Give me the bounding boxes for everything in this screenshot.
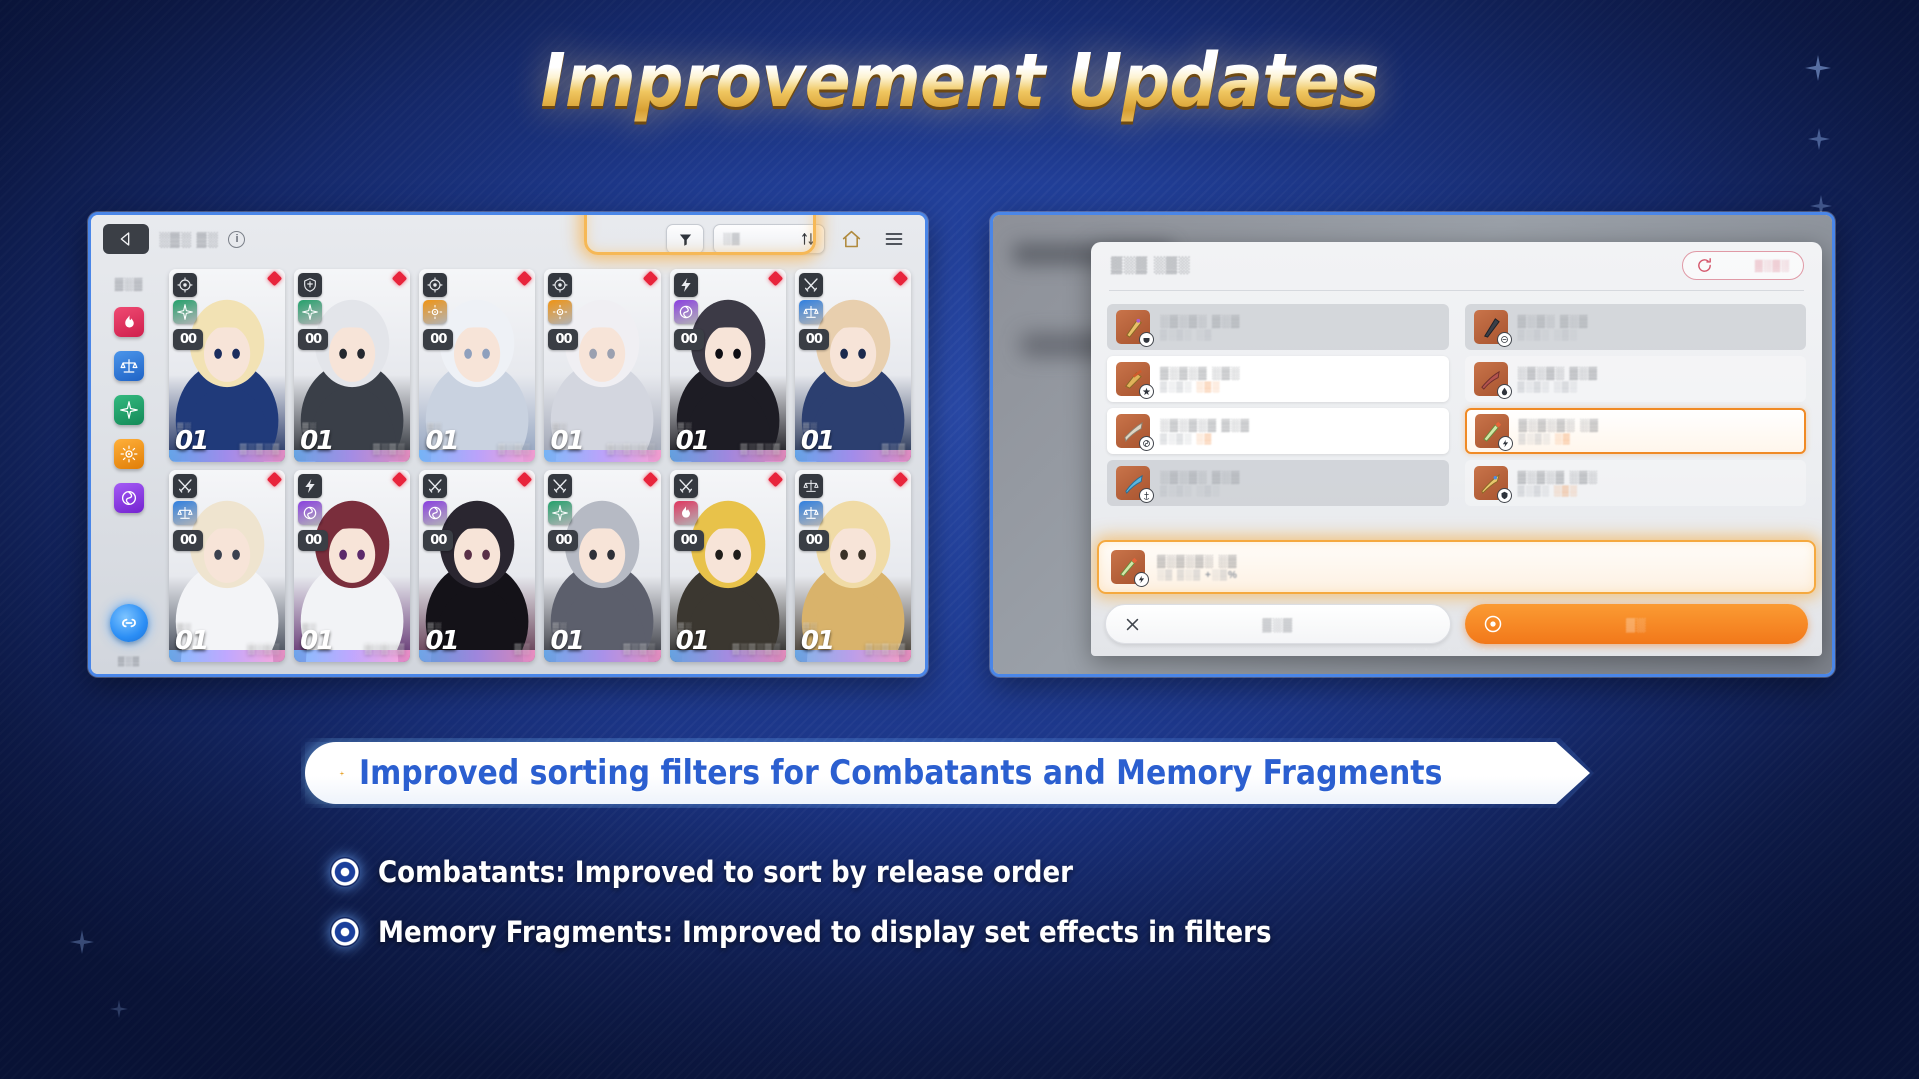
- sync-fab-label: ▒░▒: [118, 656, 140, 666]
- card-number: 01: [425, 626, 457, 656]
- card-badge-stack: 00: [298, 474, 328, 551]
- card-level-badge: 00: [423, 329, 453, 350]
- combatant-roster-screenshot: ░▒░ ▒░ i ░▒ ▒░▒: [88, 212, 928, 677]
- sparkle-icon: [339, 760, 345, 787]
- option-badge-icon: [1139, 436, 1154, 451]
- set-effect-text: ▒░▒░▒░ ░▒ ░▒ ▒░▒ +░▒%: [1157, 554, 1238, 581]
- element-badge-icon: [173, 300, 197, 324]
- role-badge-icon: [423, 273, 447, 297]
- card-number: 01: [801, 626, 833, 656]
- card-badge-stack: 00: [674, 474, 704, 551]
- combatant-card[interactable]: 00▒░01▒░▒░: [169, 470, 285, 663]
- card-level-badge: 00: [173, 329, 203, 350]
- card-level-badge: 00: [548, 329, 578, 350]
- bullet-text: Memory Fragments: Improved to display se…: [378, 915, 1272, 949]
- combatant-card[interactable]: 00▒░01▒░▒░▒: [294, 470, 410, 663]
- scroll-indicator: · · · · · · · ·: [1413, 644, 1499, 654]
- role-badge-icon: [548, 273, 572, 297]
- card-name: ▒░▒░▒░: [607, 444, 656, 455]
- filter-option-row[interactable]: ░▒░▒░▒ ▒░▒▒░▒░ ░▒: [1107, 408, 1449, 454]
- selected-set-effect-row[interactable]: ▒░▒░▒░ ░▒ ░▒ ▒░▒ +░▒%: [1097, 540, 1816, 594]
- card-number: 01: [300, 426, 332, 456]
- element-badge-icon: [298, 501, 322, 525]
- dialog-title: ▒░▒ ░▒░: [1111, 257, 1190, 275]
- card-number: 01: [175, 626, 207, 656]
- filter-option-row[interactable]: ░▒░▒░ ▒░▒▒░▒░ ░▒░: [1465, 356, 1807, 402]
- role-badge-icon: [173, 474, 197, 498]
- role-badge-icon: [298, 273, 322, 297]
- option-subtitle: ▒░▒░ ░▒░: [1160, 486, 1240, 497]
- card-name: ▒░▒░▒: [740, 444, 780, 455]
- element-badge-icon: [423, 300, 447, 324]
- option-thumbnail: [1116, 414, 1150, 448]
- info-icon[interactable]: i: [228, 231, 245, 248]
- card-badge-stack: 00: [799, 273, 829, 350]
- option-badge-icon: [1139, 332, 1154, 347]
- combatant-card[interactable]: 00▒░01▒░▒░▒░: [544, 269, 660, 462]
- option-subtitle: ▒░▒░ ░▒: [1160, 330, 1240, 341]
- card-badge-stack: 00: [548, 273, 578, 350]
- card-badge-stack: 00: [423, 474, 453, 551]
- combatant-card[interactable]: 00▒░01▒░▒░: [544, 470, 660, 663]
- option-text: ░▒░▒░ ▒░▒▒░▒░ ░▒░: [1518, 366, 1598, 393]
- flame-icon: [121, 314, 138, 331]
- cancel-button[interactable]: ▒░▒: [1105, 604, 1451, 644]
- option-thumbnail: [1116, 466, 1150, 500]
- combatant-card[interactable]: 00▒░01▒░▒░▒: [670, 269, 786, 462]
- element-badge-icon: [799, 300, 823, 324]
- cancel-label: ▒░▒: [1106, 617, 1450, 632]
- bullet-text: Combatants: Improved to sort by release …: [378, 855, 1073, 889]
- card-name: ▒░▒░▒░: [732, 644, 781, 655]
- option-badge-icon: [1498, 436, 1513, 451]
- confirm-button[interactable]: ▒░: [1465, 604, 1809, 644]
- feature-bullet: Combatants: Improved to sort by release …: [330, 855, 1371, 889]
- option-thumbnail: [1474, 466, 1508, 500]
- option-text: ▒░▒░▒ ░▒░▒░▒░ ░▒░: [1160, 366, 1240, 393]
- card-number: 01: [676, 426, 708, 456]
- option-text: ░▒░▒░ ▒░▒▒░▒░ ░▒: [1160, 314, 1240, 341]
- card-name: ▒░▒░: [248, 644, 280, 655]
- combatant-card[interactable]: 00▒░01▒░: [419, 470, 535, 663]
- option-badge-icon: [1497, 332, 1512, 347]
- card-number: 01: [175, 426, 207, 456]
- card-badge-stack: 00: [298, 273, 328, 350]
- option-title: ▒░▒░▒░ ░▒: [1519, 418, 1599, 432]
- bullet-dot-icon: [330, 917, 360, 947]
- option-subtitle: ▒░▒░ ░▒: [1519, 434, 1599, 445]
- feature-bullet-list: Combatants: Improved to sort by release …: [330, 855, 1371, 949]
- banner-text: Improved sorting filters for Combatants …: [359, 753, 1442, 793]
- sparkle-decor-icon: [110, 1000, 128, 1018]
- back-button[interactable]: [103, 224, 149, 254]
- card-level-badge: 00: [173, 530, 203, 551]
- card-level-badge: 00: [799, 530, 829, 551]
- card-badge-stack: 00: [423, 273, 453, 350]
- filter-option-row[interactable]: ░▒░▒░ ▒░▒▒░▒░ ░▒░: [1107, 460, 1449, 506]
- filter-option-row[interactable]: ▒░▒░▒ ░▒░▒░▒░ ░▒░: [1465, 460, 1807, 506]
- card-name: ▒░: [514, 644, 530, 655]
- filter-option-row[interactable]: ▒░▒░▒░ ░▒▒░▒░ ░▒: [1465, 408, 1807, 454]
- option-subtitle: ▒░▒░ ░▒: [1160, 434, 1250, 445]
- option-thumbnail: [1475, 414, 1509, 448]
- combatant-card[interactable]: 00▒░01▒░▒░: [419, 269, 535, 462]
- option-title: ░▒░▒░ ▒░▒: [1518, 366, 1598, 380]
- scales-icon: [120, 357, 138, 375]
- option-text: ▒░▒░ ▒░▒▒░▒░ ░▒░: [1518, 314, 1589, 341]
- option-title: ▒░▒░▒ ░▒░: [1160, 366, 1240, 380]
- element-badge-icon: [548, 501, 572, 525]
- reset-button[interactable]: ▒░▒░: [1682, 251, 1804, 280]
- sync-fab-button[interactable]: [110, 604, 148, 642]
- option-subtitle: ▒░▒░ ░▒░: [1518, 330, 1589, 341]
- sparkle-decor-icon: [1808, 128, 1830, 150]
- home-button[interactable]: [834, 224, 868, 254]
- card-number: 01: [550, 626, 582, 656]
- option-title: ░▒░▒░▒ ▒░▒: [1160, 418, 1250, 432]
- set-effect-title: ▒░▒░▒░ ░▒: [1157, 554, 1238, 568]
- option-badge-icon: [1497, 384, 1512, 399]
- option-title: ▒░▒░ ▒░▒: [1518, 314, 1589, 328]
- combatant-card[interactable]: 00▒░01▒░▒: [795, 269, 911, 462]
- spiral-icon: [120, 489, 138, 507]
- funnel-filter-icon: [678, 232, 693, 247]
- memory-fragment-filter-screenshot: ▒░▒ ░▒░ ▒░▒░ ░▒░▒░ ▒░▒▒░▒░ ░▒▒░▒░ ▒░▒▒░▒…: [990, 212, 1835, 677]
- sidebar-all-label[interactable]: ▒░▒: [115, 277, 144, 291]
- set-effect-sub: ░▒ ▒░▒ +░▒%: [1157, 570, 1238, 581]
- menu-button[interactable]: [877, 224, 911, 254]
- option-thumbnail: [1474, 310, 1508, 344]
- element-filter-void[interactable]: [114, 483, 144, 513]
- card-name: ▒░▒░▒: [240, 444, 280, 455]
- card-badge-stack: 00: [173, 474, 203, 551]
- feature-bullet: Memory Fragments: Improved to display se…: [330, 915, 1371, 949]
- option-badge-icon: [1139, 488, 1154, 503]
- filter-dialog: ▒░▒ ░▒░ ▒░▒░ ░▒░▒░ ▒░▒▒░▒░ ░▒▒░▒░ ▒░▒▒░▒…: [1091, 242, 1822, 656]
- reset-label: ▒░▒░: [1755, 260, 1790, 272]
- element-badge-icon: [173, 501, 197, 525]
- option-title: ▒░▒░▒ ░▒░: [1518, 470, 1598, 484]
- link-sync-icon: [119, 613, 139, 633]
- card-name: ▒░▒░: [498, 444, 530, 455]
- card-number: 01: [801, 426, 833, 456]
- page-title-container: Improvement Updates: [0, 38, 1919, 124]
- dialog-header: ▒░▒ ░▒░ ▒░▒░: [1091, 242, 1822, 290]
- hamburger-menu-icon: [884, 229, 904, 249]
- card-name: ▒░▒░▒: [866, 644, 906, 655]
- screen-title: ░▒░ ▒░: [159, 231, 218, 247]
- role-badge-icon: [298, 474, 322, 498]
- refresh-reset-icon: [1696, 257, 1713, 274]
- role-badge-icon: [423, 474, 447, 498]
- feature-banner: Improved sorting filters for Combatants …: [305, 742, 1590, 804]
- option-badge-icon: [1497, 488, 1512, 503]
- element-badge-icon: [423, 501, 447, 525]
- set-effect-thumbnail: [1111, 550, 1145, 584]
- card-level-badge: 00: [674, 530, 704, 551]
- page-title: Improvement Updates: [540, 38, 1378, 124]
- option-thumbnail: [1474, 362, 1508, 396]
- dialog-action-bar: ▒░▒ ▒░: [1105, 604, 1808, 644]
- back-arrow-icon: [118, 231, 134, 247]
- combatant-card[interactable]: 00▒░01▒░▒░▒: [169, 269, 285, 462]
- combatant-card[interactable]: 00▒░01▒░▒░: [294, 269, 410, 462]
- element-filter-azure[interactable]: [114, 351, 144, 381]
- compass-star-icon: [120, 401, 138, 419]
- element-badge-icon: [548, 300, 572, 324]
- dialog-divider: [1109, 290, 1804, 291]
- sort-dropdown[interactable]: ░▒: [713, 224, 825, 254]
- combatant-card[interactable]: 00▒░01▒░▒░▒: [795, 470, 911, 663]
- role-badge-icon: [799, 273, 823, 297]
- option-title: ░▒░▒░ ▒░▒: [1160, 470, 1240, 484]
- card-level-badge: 00: [298, 329, 328, 350]
- card-badge-stack: 00: [548, 474, 578, 551]
- sun-eye-icon: [120, 445, 138, 463]
- card-level-badge: 00: [548, 530, 578, 551]
- card-name: ▒░▒░: [373, 444, 405, 455]
- card-number: 01: [550, 426, 582, 456]
- combatant-card[interactable]: 00▒░01▒░▒░▒░: [670, 470, 786, 663]
- option-title: ░▒░▒░ ▒░▒: [1160, 314, 1240, 328]
- card-name: ▒░▒: [882, 444, 906, 455]
- role-badge-icon: [799, 474, 823, 498]
- card-badge-stack: 00: [799, 474, 829, 551]
- element-badge-icon: [674, 300, 698, 324]
- card-number: 01: [676, 626, 708, 656]
- card-level-badge: 00: [674, 329, 704, 350]
- combatant-card-grid: 00▒░01▒░▒░▒00▒░01▒░▒░00▒░01▒░▒░00▒░01▒░▒…: [165, 265, 917, 668]
- card-level-badge: 00: [799, 329, 829, 350]
- filter-option-row[interactable]: ░▒░▒░ ▒░▒▒░▒░ ░▒: [1107, 304, 1449, 350]
- card-name: ▒░▒░▒: [365, 644, 405, 655]
- option-text: ▒░▒░▒ ░▒░▒░▒░ ░▒░: [1518, 470, 1598, 497]
- sort-label: ░▒: [723, 233, 741, 245]
- option-subtitle: ▒░▒░ ░▒░: [1518, 486, 1598, 497]
- effect-badge-icon: [1134, 572, 1149, 587]
- element-filter-verdant[interactable]: [114, 395, 144, 425]
- filter-button[interactable]: [666, 224, 704, 254]
- home-icon: [841, 229, 862, 250]
- card-badge-stack: 00: [674, 273, 704, 350]
- role-badge-icon: [674, 474, 698, 498]
- role-badge-icon: [674, 273, 698, 297]
- card-number: 01: [300, 626, 332, 656]
- card-number: 01: [425, 426, 457, 456]
- option-text: ░▒░▒░ ▒░▒▒░▒░ ░▒░: [1160, 470, 1240, 497]
- element-badge-icon: [799, 501, 823, 525]
- option-badge-icon: [1139, 384, 1154, 399]
- filter-option-row[interactable]: ▒░▒░ ▒░▒▒░▒░ ░▒░: [1465, 304, 1807, 350]
- banner-body: Improved sorting filters for Combatants …: [305, 742, 1590, 804]
- sort-arrows-icon: [801, 232, 815, 246]
- option-text: ▒░▒░▒░ ░▒▒░▒░ ░▒: [1519, 418, 1599, 445]
- card-name: ▒░▒░: [623, 644, 655, 655]
- card-level-badge: 00: [298, 530, 328, 551]
- bullet-dot-icon: [330, 857, 360, 887]
- element-filter-crimson[interactable]: [114, 307, 144, 337]
- sparkle-decor-icon: [70, 930, 94, 954]
- option-subtitle: ▒░▒░ ░▒░: [1160, 382, 1240, 393]
- element-badge-icon: [298, 300, 322, 324]
- option-thumbnail: [1116, 310, 1150, 344]
- filter-option-list: ░▒░▒░ ▒░▒▒░▒░ ░▒▒░▒░ ▒░▒▒░▒░ ░▒░▒░▒░▒ ░▒…: [1105, 300, 1808, 544]
- option-text: ░▒░▒░▒ ▒░▒▒░▒░ ░▒: [1160, 418, 1250, 445]
- filter-option-row[interactable]: ▒░▒░▒ ░▒░▒░▒░ ░▒░: [1107, 356, 1449, 402]
- element-filter-solar[interactable]: [114, 439, 144, 469]
- confirm-label: ▒░: [1465, 617, 1809, 632]
- role-badge-icon: [173, 273, 197, 297]
- roster-toolbar: ░▒: [666, 223, 911, 255]
- card-level-badge: 00: [423, 530, 453, 551]
- option-subtitle: ▒░▒░ ░▒░: [1518, 382, 1598, 393]
- card-badge-stack: 00: [173, 273, 203, 350]
- element-badge-icon: [674, 501, 698, 525]
- element-filter-sidebar: ▒░▒ ▒░▒: [99, 263, 159, 674]
- option-thumbnail: [1116, 362, 1150, 396]
- role-badge-icon: [548, 474, 572, 498]
